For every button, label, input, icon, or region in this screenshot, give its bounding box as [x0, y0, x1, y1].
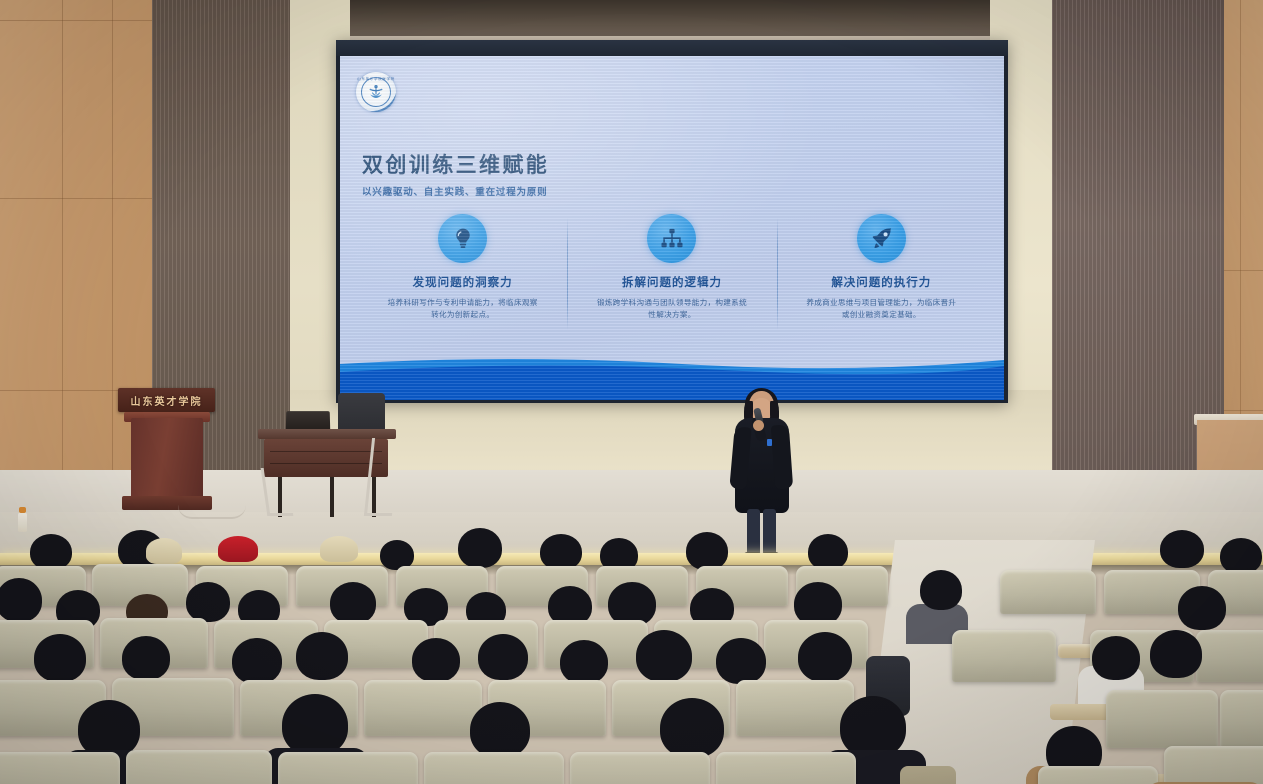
seat-armrest	[1050, 704, 1112, 720]
student-head	[0, 578, 42, 622]
seated-students	[0, 530, 1263, 784]
water-bottle-cap	[19, 507, 26, 513]
auditorium-seat[interactable]	[952, 630, 1056, 682]
column-body: 养成商业思维与项目管理能力，为临床晋升或创业融资奠定基础。	[806, 297, 956, 321]
auditorium-seat[interactable]	[716, 752, 856, 784]
wall-panel-left-wood	[0, 0, 152, 540]
slide-column-1: 发现问题的洞察力 培养科研写作与专利申请能力，将临床观察转化为创新起点。	[358, 214, 567, 344]
auditorium-seat[interactable]	[126, 750, 272, 784]
hierarchy-icon	[647, 214, 696, 263]
student-head	[716, 638, 766, 684]
student-head	[686, 532, 728, 570]
auditorium-seat[interactable]	[424, 752, 564, 784]
student-head	[478, 634, 528, 680]
column-title: 拆解问题的逻辑力	[622, 274, 722, 290]
slide-wave-decoration	[340, 348, 1004, 400]
slide-column-2: 拆解问题的逻辑力 锻炼跨学科沟通与团队领导能力，构建系统性解决方案。	[567, 214, 776, 344]
presenter-hand	[753, 420, 764, 431]
student-head	[1220, 538, 1262, 574]
crest-figure-icon	[366, 83, 386, 103]
auditorium-seat[interactable]	[1038, 766, 1158, 784]
student-head	[470, 702, 530, 758]
student-head	[808, 534, 848, 570]
auditorium-seat[interactable]	[1220, 690, 1263, 748]
student-head	[330, 582, 376, 624]
student-head	[840, 696, 906, 758]
auditorium-scene: 山东英才学院医学院 双创训练三维赋能 以兴趣驱动、自主实践、重在过程为原则	[0, 0, 1263, 784]
student-head	[920, 570, 962, 610]
student-head	[1160, 530, 1204, 568]
lightbulb-icon	[438, 214, 487, 263]
slide-three-columns: 发现问题的洞察力 培养科研写作与专利申请能力，将临床观察转化为创新起点。	[358, 214, 986, 344]
slide-title: 双创训练三维赋能	[362, 149, 549, 179]
student-head	[30, 534, 72, 570]
auditorium-seat[interactable]	[0, 752, 120, 784]
university-logo-badge: 山东英才学院医学院	[356, 72, 396, 112]
student-head	[186, 582, 230, 622]
auditorium-seat[interactable]	[1196, 630, 1263, 682]
presenter-name-badge	[767, 439, 772, 446]
slide-subtitle: 以兴趣驱动、自主实践、重在过程为原则	[362, 184, 547, 198]
logo-ring-text: 山东英才学院医学院	[357, 77, 395, 82]
screen-bezel-top	[336, 40, 1008, 56]
column-title: 解决问题的执行力	[831, 274, 931, 290]
student-head	[1150, 630, 1202, 678]
presenter-arm-right	[771, 424, 793, 489]
wall-sign-text: 山东英才学院	[131, 393, 203, 408]
column-body: 锻炼跨学科沟通与团队领导能力，构建系统性解决方案。	[597, 297, 747, 321]
wall-sign-university-name: 山东英才学院	[118, 388, 215, 412]
led-presentation-screen[interactable]: 山东英才学院医学院 双创训练三维赋能 以兴趣驱动、自主实践、重在过程为原则	[336, 40, 1008, 403]
auditorium-seat[interactable]	[278, 752, 418, 784]
water-bottle[interactable]	[18, 512, 27, 532]
student-head	[412, 638, 460, 682]
student-head	[660, 698, 724, 758]
student-cap-cream	[146, 538, 182, 564]
rocket-icon	[857, 214, 906, 263]
auditorium-seat[interactable]	[570, 752, 710, 784]
lecture-hall-room: 山东英才学院医学院 双创训练三维赋能 以兴趣驱动、自主实践、重在过程为原则	[0, 0, 1263, 784]
auditorium-seat[interactable]	[1000, 570, 1096, 614]
student-head	[1178, 586, 1226, 630]
auditorium-seat[interactable]	[364, 680, 482, 736]
column-title: 发现问题的洞察力	[413, 274, 513, 290]
auditorium-seat[interactable]	[1106, 690, 1218, 748]
slide-canvas: 山东英才学院医学院 双创训练三维赋能 以兴趣驱动、自主实践、重在过程为原则	[340, 56, 1004, 400]
student-head	[34, 634, 86, 682]
student-cap-red	[218, 536, 258, 562]
slide-column-3: 解决问题的执行力 养成商业思维与项目管理能力，为临床晋升或创业融资奠定基础。	[777, 214, 986, 344]
student-head	[798, 632, 852, 682]
student-head	[540, 534, 582, 570]
student-head	[1092, 636, 1140, 680]
student-head	[232, 638, 282, 684]
desk-leg	[330, 477, 334, 517]
student-cap-cream	[320, 536, 358, 562]
student-head	[282, 694, 348, 756]
student-head	[296, 632, 348, 680]
student-head	[636, 630, 692, 682]
student-head	[458, 528, 502, 568]
backpack[interactable]	[900, 766, 956, 784]
student-head	[122, 636, 170, 680]
auditorium-seat[interactable]	[1164, 746, 1263, 784]
lectern-body[interactable]	[131, 418, 203, 500]
auditorium-seat[interactable]	[736, 680, 854, 736]
floor-cable	[178, 505, 246, 519]
student-head	[560, 640, 608, 684]
column-body: 培养科研写作与专利申请能力，将临床观察转化为创新起点。	[388, 297, 538, 321]
